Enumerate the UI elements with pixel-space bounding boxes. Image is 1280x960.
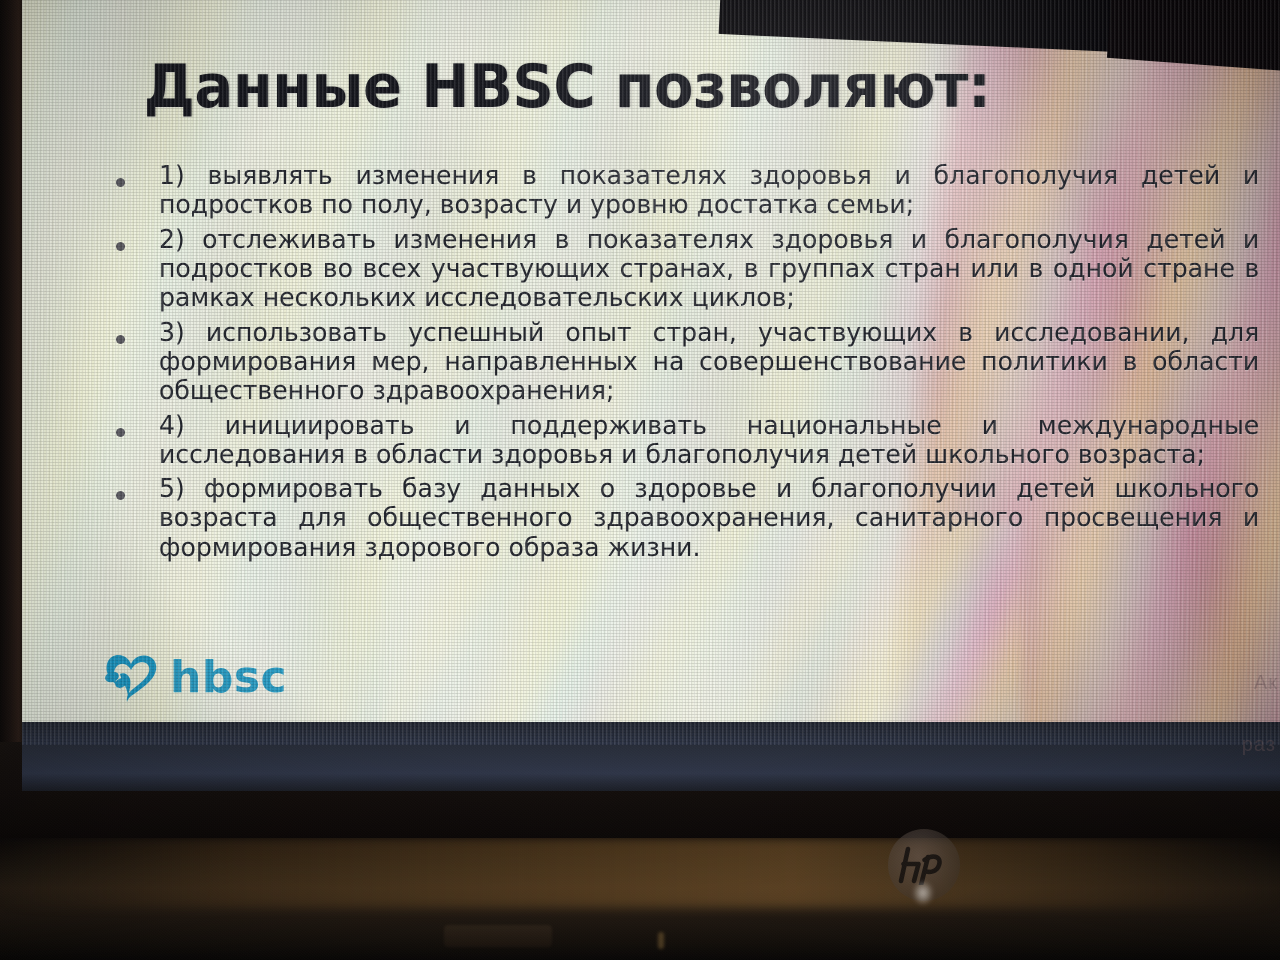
screen-scanline-texture	[22, 0, 1280, 745]
status-led	[658, 932, 664, 949]
desk-reflection	[0, 838, 1280, 908]
bezel-glint	[912, 880, 934, 906]
laptop-hinge-detail	[444, 925, 552, 947]
photograph-of-laptop-screen: Данные HBSC позволяют: 1) выявлять измен…	[0, 0, 1280, 960]
powerpoint-background-strip-lower	[22, 745, 1280, 791]
